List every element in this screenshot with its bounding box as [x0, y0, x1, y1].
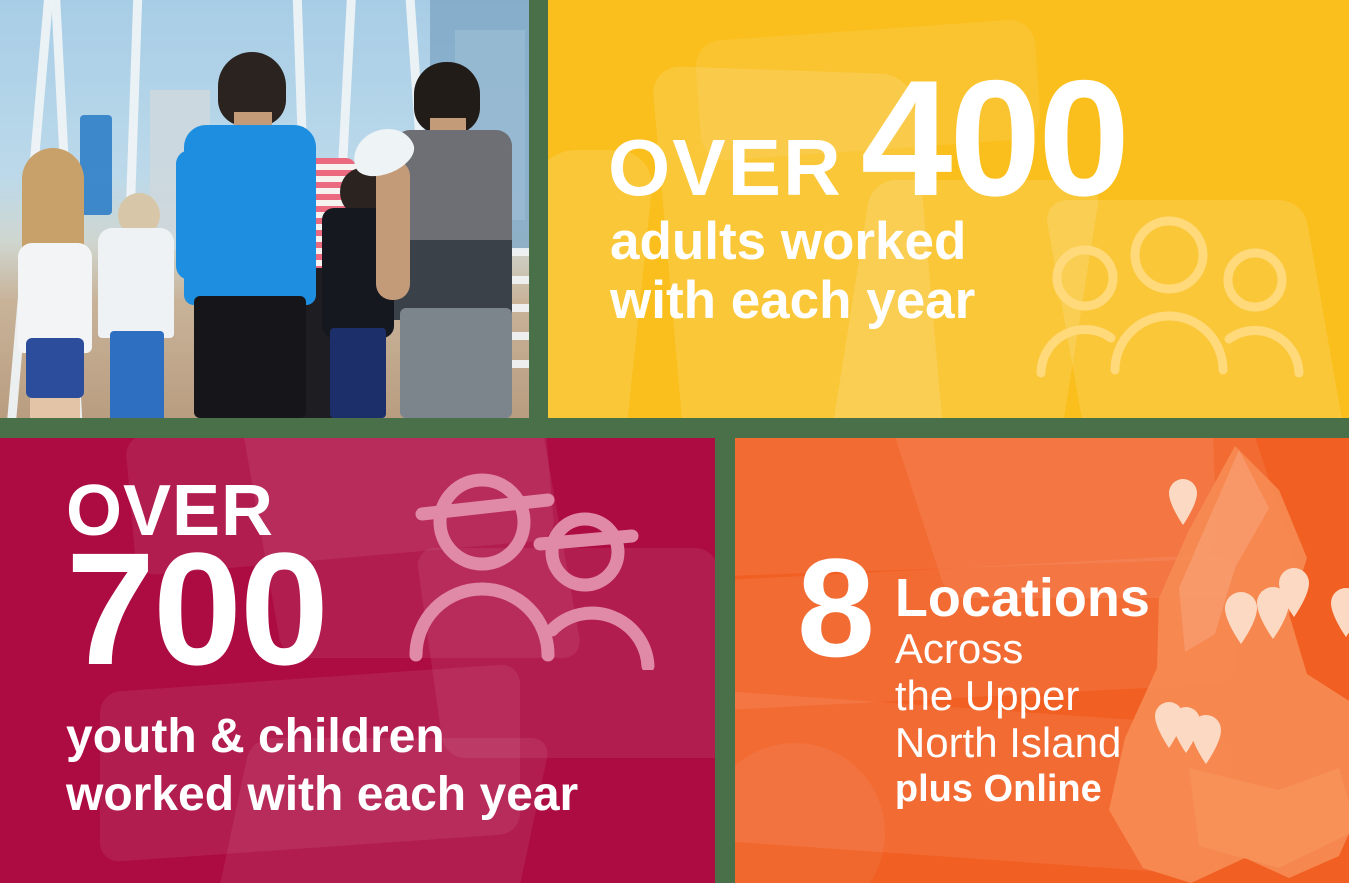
locations-content: 8 Locations Across the Upper North Islan…: [797, 553, 1150, 812]
youth-subtext: youth & children worked with each year: [66, 708, 578, 823]
youth-number: 700: [66, 547, 327, 672]
locations-number: 8: [797, 553, 873, 662]
infographic-board: OVER 400 adults worked with each year OV…: [0, 0, 1349, 883]
adults-headline: OVER 400: [608, 72, 1127, 206]
locations-stat-panel: 8 Locations Across the Upper North Islan…: [735, 438, 1349, 883]
photo-person-boy: [92, 153, 178, 418]
photo-person-adult-blue: [178, 0, 318, 418]
two-children-icon: [400, 470, 665, 670]
photo-person-adult-grey: [378, 0, 522, 418]
locations-line3: North Island: [895, 719, 1150, 766]
photo-panel: [0, 0, 529, 418]
youth-subtext-line2: worked with each year: [66, 766, 578, 824]
adults-subtext-line2: with each year: [610, 271, 975, 330]
locations-emphasis: plus Online: [895, 768, 1150, 812]
locations-text-column: Locations Across the Upper North Island …: [895, 553, 1150, 812]
group-of-people-icon: [1019, 210, 1319, 390]
adults-subtext: adults worked with each year: [610, 190, 975, 331]
youth-headline: OVER 700: [66, 476, 327, 671]
adults-number: 400: [861, 72, 1127, 204]
locations-line1: Across: [895, 625, 1150, 672]
locations-line2: the Upper: [895, 672, 1150, 719]
adults-stat-panel: OVER 400 adults worked with each year: [548, 0, 1349, 418]
youth-subtext-line1: youth & children: [66, 708, 578, 766]
adults-subtext-line1: adults worked: [610, 212, 975, 271]
photo-person-girl: [14, 148, 100, 418]
locations-heading: Locations: [895, 571, 1150, 625]
